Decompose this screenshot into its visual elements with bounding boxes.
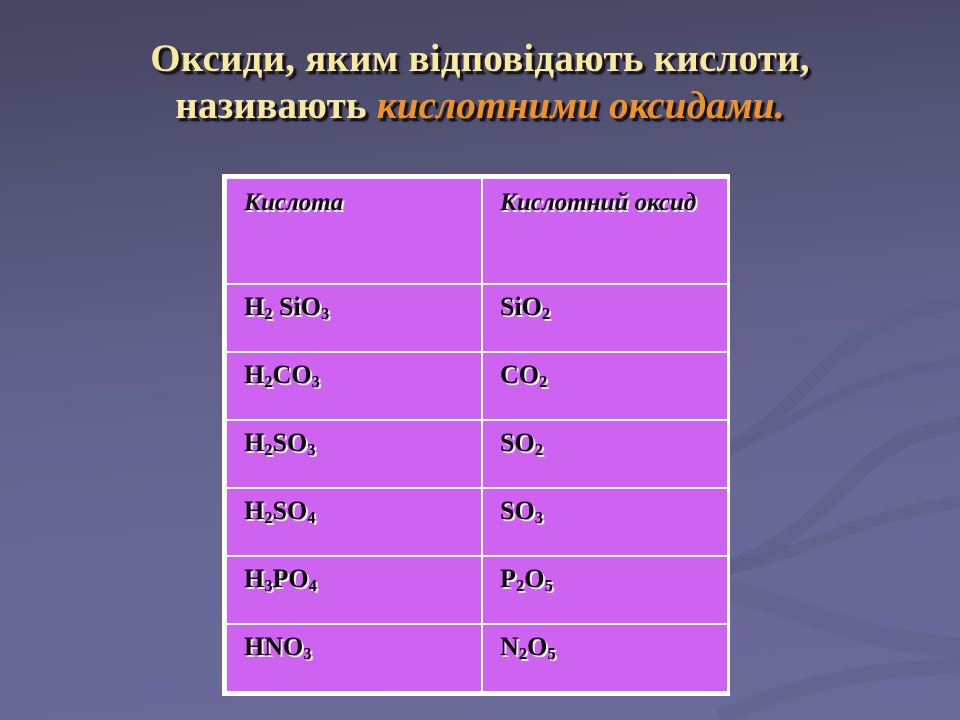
column-header-oxide: Кислотний оксид [500, 186, 727, 219]
table-header-row: Кислота Кислотний оксид [226, 178, 728, 284]
oxide-formula: SiO2 [500, 292, 727, 321]
oxide-formula: SO3 [500, 496, 727, 525]
title-line-2-emphasis: кислотними оксидами. [377, 84, 785, 127]
acid-formula: H2 SiO3 [244, 292, 481, 321]
table-header-cell-oxide: Кислотний оксид [482, 178, 728, 284]
title-line-2: називають кислотними оксидами. [0, 83, 960, 130]
table-row: H2SO3 SO2 [226, 420, 728, 488]
cell-acid: H2 SiO3 [226, 284, 482, 352]
title-line-2-plain: називають [175, 84, 377, 127]
acid-formula: H3PO4 [244, 564, 481, 593]
page-title: Оксиди, яким відповідають кислоти, назив… [0, 36, 960, 130]
cell-oxide: SO3 [482, 488, 728, 556]
table-row: HNO3 N2O5 [226, 624, 728, 692]
column-header-acid: Кислота [244, 186, 481, 219]
acid-oxide-table-container: Кислота Кислотний оксид H2 SiO3 SiO2 [222, 174, 730, 696]
table-header-cell-acid: Кислота [226, 178, 482, 284]
table-row: H2 SiO3 SiO2 [226, 284, 728, 352]
cell-oxide: N2O5 [482, 624, 728, 692]
cell-acid: H2SO3 [226, 420, 482, 488]
cell-acid: HNO3 [226, 624, 482, 692]
oxide-formula: N2O5 [500, 632, 727, 661]
acid-oxide-table: Кислота Кислотний оксид H2 SiO3 SiO2 [225, 177, 729, 693]
oxide-formula: CO2 [500, 360, 727, 389]
cell-oxide: SiO2 [482, 284, 728, 352]
acid-formula: H2SO3 [244, 428, 481, 457]
slide-canvas: Оксиди, яким відповідають кислоти, назив… [0, 0, 960, 720]
acid-formula: H2SO4 [244, 496, 481, 525]
title-line-1: Оксиди, яким відповідають кислоти, [0, 36, 960, 83]
cell-oxide: P2O5 [482, 556, 728, 624]
oxide-formula: P2O5 [500, 564, 727, 593]
cell-acid: H2SO4 [226, 488, 482, 556]
cell-oxide: SO2 [482, 420, 728, 488]
acid-formula: H2CO3 [244, 360, 481, 389]
table-row: H3PO4 P2O5 [226, 556, 728, 624]
cell-acid: H2CO3 [226, 352, 482, 420]
table-row: H2SO4 SO3 [226, 488, 728, 556]
oxide-formula: SO2 [500, 428, 727, 457]
cell-oxide: CO2 [482, 352, 728, 420]
acid-formula: HNO3 [244, 632, 481, 661]
cell-acid: H3PO4 [226, 556, 482, 624]
table-row: H2CO3 CO2 [226, 352, 728, 420]
